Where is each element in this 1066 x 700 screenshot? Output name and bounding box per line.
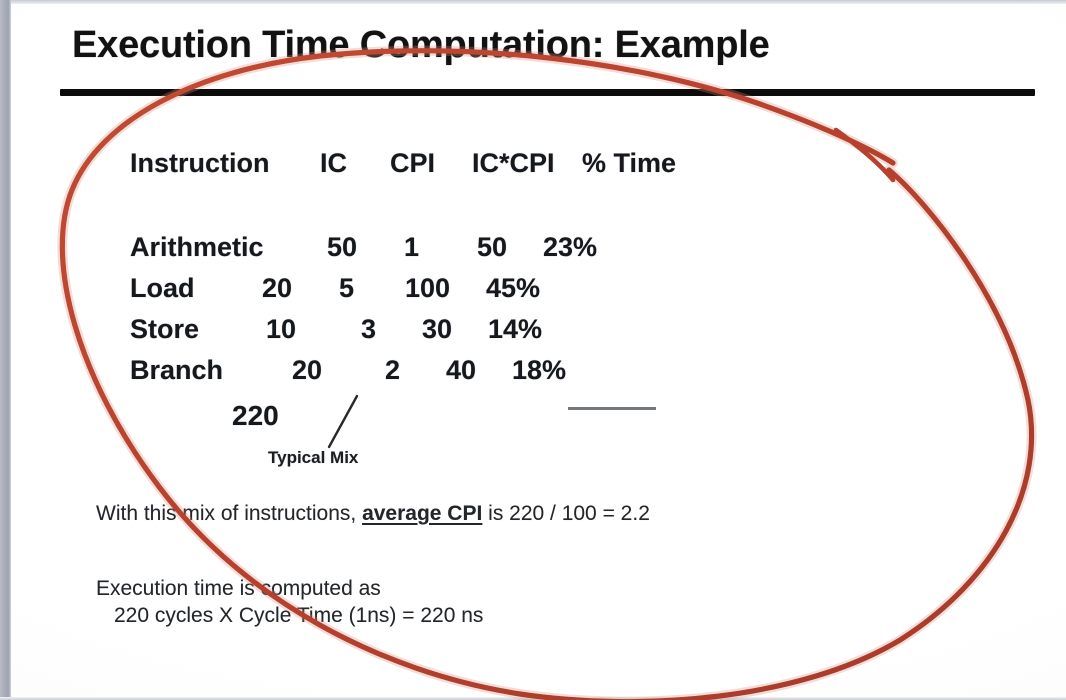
- avg-cpi-emphasis: average CPI: [362, 502, 482, 525]
- execution-time-line-1: Execution time is computed as: [96, 575, 381, 603]
- page-title: Execution Time Computation: Example: [72, 24, 770, 67]
- cell-ic: 10: [240, 314, 296, 345]
- cell-instruction: Load: [130, 273, 230, 304]
- slide-screenshot: Execution Time Computation: Example Inst…: [0, 0, 1066, 700]
- column-header-instruction: Instruction: [130, 148, 320, 179]
- title-divider-rule: [60, 89, 1035, 96]
- sum-underline-rule: [568, 407, 656, 410]
- cell-ic-cpi: 40: [400, 355, 476, 386]
- cell-ic: 50: [305, 232, 357, 263]
- avg-cpi-prefix: With this mix of instructions,: [96, 502, 362, 525]
- cell-ic: 20: [266, 355, 322, 386]
- column-header-pct-time: % Time: [582, 148, 692, 179]
- column-header-ic-cpi: IC*CPI: [472, 148, 582, 179]
- table-row: Arithmetic5015023%: [130, 232, 597, 263]
- cell-ic-cpi: 100: [354, 273, 450, 304]
- avg-cpi-suffix: is 220 / 100 = 2.2: [482, 502, 650, 525]
- table-row: Load20510045%: [130, 273, 540, 304]
- cell-cpi: 1: [357, 232, 419, 263]
- cell-instruction: Arithmetic: [130, 232, 305, 263]
- cell-ic-cpi: 50: [419, 232, 507, 263]
- table-row: Branch2024018%: [130, 355, 566, 386]
- cell-ic: 20: [230, 273, 292, 304]
- cell-pct-time: 23%: [507, 232, 597, 263]
- cell-cpi: 2: [322, 355, 400, 386]
- cell-ic-cpi: 30: [376, 314, 452, 345]
- cell-instruction: Branch: [130, 355, 266, 386]
- instruction-mix-table: InstructionICCPIIC*CPI% Time Arithmetic5…: [0, 148, 1066, 200]
- cell-instruction: Store: [130, 314, 240, 345]
- column-header-cpi: CPI: [390, 148, 472, 179]
- cell-pct-time: 14%: [452, 314, 542, 345]
- table-row: Store1033014%: [130, 314, 542, 345]
- cell-cpi: 5: [292, 273, 354, 304]
- leader-line-icon: [326, 394, 360, 450]
- page-left-gutter: [0, 0, 11, 700]
- average-cpi-line: With this mix of instructions, average C…: [96, 500, 650, 528]
- execution-time-line-2: 220 cycles X Cycle Time (1ns) = 220 ns: [114, 602, 483, 630]
- column-header-ic: IC: [320, 148, 390, 179]
- cell-cpi: 3: [296, 314, 376, 345]
- page-top-edge: [0, 0, 1066, 4]
- cell-pct-time: 45%: [450, 273, 540, 304]
- total-ic-cpi: 220: [232, 400, 279, 432]
- cell-pct-time: 18%: [476, 355, 566, 386]
- table-header-row: InstructionICCPIIC*CPI% Time: [0, 148, 1066, 200]
- typical-mix-caption: Typical Mix: [268, 448, 358, 468]
